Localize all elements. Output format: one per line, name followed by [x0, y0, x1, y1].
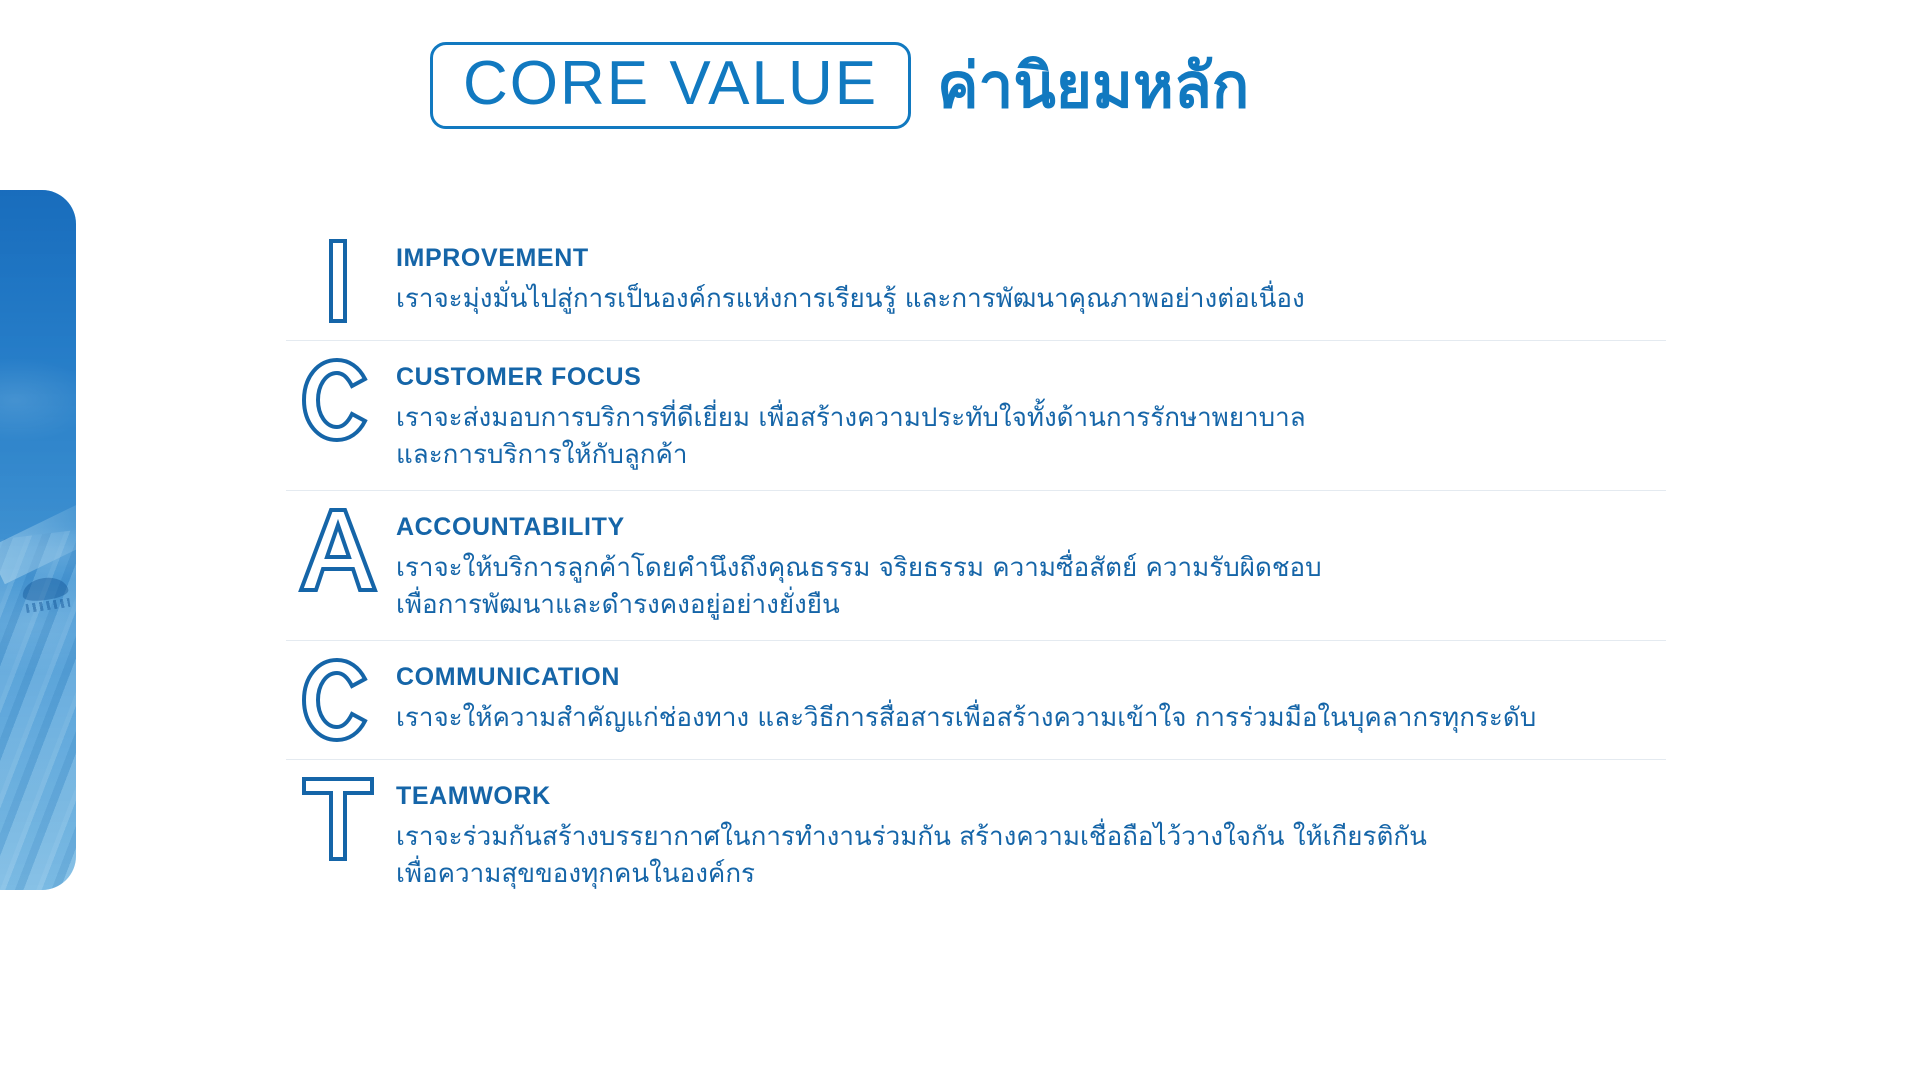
value-description-line: เพื่อความสุขของทุกคนในองค์กร: [396, 856, 1666, 893]
letter-glyph-c: [299, 657, 377, 743]
value-body: IMPROVEMENTเราจะมุ่งมั่นไปสู่การเป็นองค์…: [390, 236, 1666, 318]
value-description-line: เราจะร่วมกันสร้างบรรยากาศในการทำงานร่วมก…: [396, 819, 1666, 856]
value-body: TEAMWORKเราจะร่วมกันสร้างบรรยากาศในการทำ…: [390, 774, 1666, 893]
value-title: COMMUNICATION: [396, 663, 1666, 692]
value-body: CUSTOMER FOCUSเราจะส่งมอบการบริการที่ดีเ…: [390, 355, 1666, 474]
value-title: IMPROVEMENT: [396, 244, 1666, 273]
value-description-line: และการบริการให้กับลูกค้า: [396, 437, 1666, 474]
value-description: เราจะร่วมกันสร้างบรรยากาศในการทำงานร่วมก…: [396, 819, 1666, 893]
value-row: CUSTOMER FOCUSเราจะส่งมอบการบริการที่ดีเ…: [286, 341, 1666, 491]
value-row: IMPROVEMENTเราจะมุ่งมั่นไปสู่การเป็นองค์…: [286, 222, 1666, 341]
value-body: COMMUNICATIONเราจะให้ความสำคัญแก่ช่องทาง…: [390, 655, 1666, 737]
page-title-thai: ค่านิยมหลัก: [937, 53, 1249, 118]
letter-glyph-a: [298, 507, 378, 593]
value-description-line: เราจะให้บริการลูกค้าโดยคำนึงถึงคุณธรรม จ…: [396, 550, 1666, 587]
value-letter-a-2: [286, 505, 390, 593]
value-letter-t-4: [286, 774, 390, 862]
value-description: เราจะให้ความสำคัญแก่ช่องทาง และวิธีการสื…: [396, 700, 1666, 737]
letter-glyph-t: [301, 776, 375, 862]
value-title: CUSTOMER FOCUS: [396, 363, 1666, 392]
value-description-line: เพื่อการพัฒนาและดำรงคงอยู่อย่างยั่งยืน: [396, 587, 1666, 624]
value-row: TEAMWORKเราจะร่วมกันสร้างบรรยากาศในการทำ…: [286, 760, 1666, 909]
letter-glyph-i: [315, 238, 361, 324]
page-header: CORE VALUE ค่านิยมหลัก: [430, 42, 1249, 129]
value-title: ACCOUNTABILITY: [396, 513, 1666, 542]
hospital-building-photo-strip: [0, 190, 76, 890]
core-value-badge: CORE VALUE: [430, 42, 911, 129]
value-body: ACCOUNTABILITYเราจะให้บริการลูกค้าโดยคำน…: [390, 505, 1666, 624]
value-description-line: เราจะให้ความสำคัญแก่ช่องทาง และวิธีการสื…: [396, 700, 1666, 737]
core-values-list: IMPROVEMENTเราจะมุ่งมั่นไปสู่การเป็นองค์…: [286, 222, 1666, 908]
value-description-line: เราจะมุ่งมั่นไปสู่การเป็นองค์กรแห่งการเร…: [396, 281, 1666, 318]
value-letter-c-1: [286, 355, 390, 443]
value-description: เราจะให้บริการลูกค้าโดยคำนึงถึงคุณธรรม จ…: [396, 550, 1666, 624]
letter-glyph-c: [299, 357, 377, 443]
value-row: ACCOUNTABILITYเราจะให้บริการลูกค้าโดยคำน…: [286, 491, 1666, 641]
value-title: TEAMWORK: [396, 782, 1666, 811]
value-description-line: เราจะส่งมอบการบริการที่ดีเยี่ยม เพื่อสร้…: [396, 400, 1666, 437]
core-value-badge-label: CORE VALUE: [463, 51, 878, 116]
value-letter-i-0: [286, 236, 390, 324]
value-description: เราจะส่งมอบการบริการที่ดีเยี่ยม เพื่อสร้…: [396, 400, 1666, 474]
value-description: เราจะมุ่งมั่นไปสู่การเป็นองค์กรแห่งการเร…: [396, 281, 1666, 318]
value-row: COMMUNICATIONเราจะให้ความสำคัญแก่ช่องทาง…: [286, 641, 1666, 760]
value-letter-c-3: [286, 655, 390, 743]
blue-tint-overlay: [0, 190, 76, 890]
